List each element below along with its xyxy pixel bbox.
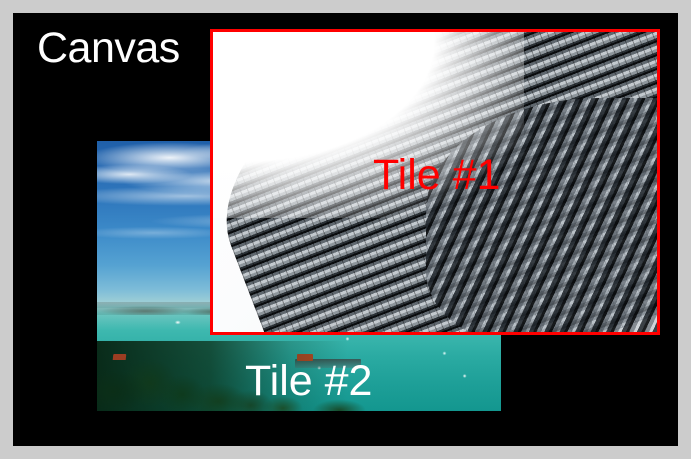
rooftop-shape <box>113 354 127 360</box>
app-frame: Canvas Tile #2 Tile #1 <box>0 0 691 459</box>
canvas-title: Canvas <box>37 27 180 70</box>
tile-1[interactable]: Tile #1 <box>210 29 660 335</box>
canvas-area[interactable]: Canvas Tile #2 Tile #1 <box>13 13 678 446</box>
tile-2-label: Tile #2 <box>245 360 372 403</box>
tile-1-label: Tile #1 <box>373 154 500 197</box>
